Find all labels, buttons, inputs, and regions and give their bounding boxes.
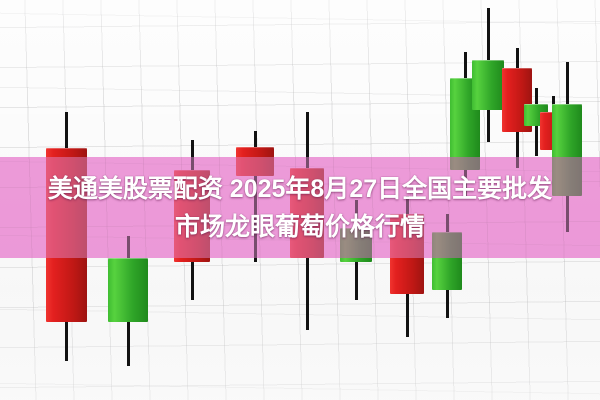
candlestick-body-up — [472, 60, 504, 110]
candlestick-body-up — [108, 258, 148, 322]
headline-block: 美通美股票配资 2025年8月27日全国主要批发 市场龙眼葡萄价格行情 — [0, 157, 600, 258]
banner-image: 美通美股票配资 2025年8月27日全国主要批发 市场龙眼葡萄价格行情 — [0, 0, 600, 400]
headline-line-2: 市场龙眼葡萄价格行情 — [175, 209, 425, 245]
headline-line-1: 美通美股票配资 2025年8月27日全国主要批发 — [48, 171, 552, 207]
